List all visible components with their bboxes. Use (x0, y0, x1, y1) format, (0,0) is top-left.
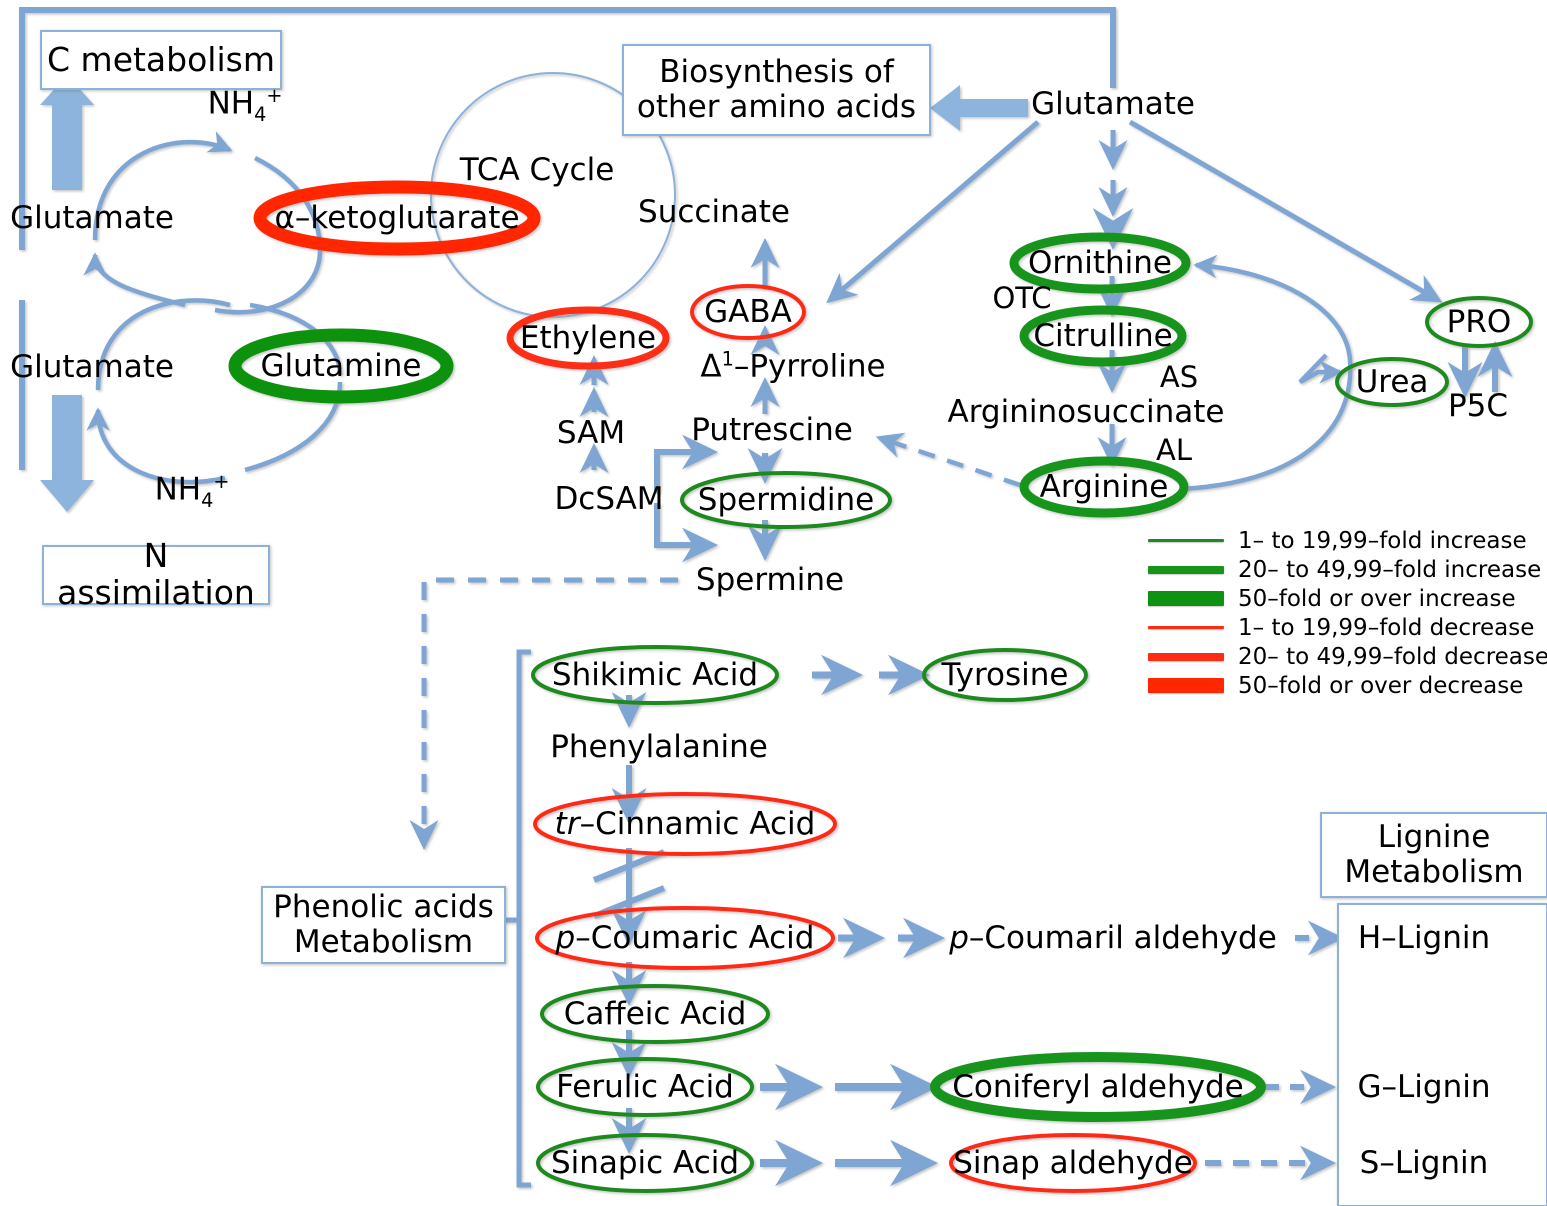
tr-cinnamic-acid-prefix: tr (555, 806, 580, 842)
box-c-metabolism-label: C metabolism (47, 42, 275, 79)
node-coniferyl-aldehyde: Coniferyl aldehyde (952, 1069, 1244, 1105)
node-nh4-bottom: NH4+ (155, 470, 230, 512)
node-glutamate-left-top: Glutamate (10, 200, 174, 236)
legend-bar-4 (1148, 626, 1224, 629)
node-otc: OTC (992, 281, 1051, 315)
legend-row: 1– to 19,99–fold increase (1148, 526, 1546, 555)
node-as: AS (1160, 360, 1198, 394)
node-succinate: Succinate (638, 194, 790, 230)
legend-row: 20– to 49,99–fold increase (1148, 555, 1546, 584)
node-nh4-top: NH4+ (208, 84, 283, 126)
legend-row: 50–fold or over decrease (1148, 671, 1546, 700)
node-argininosuccinate: Argininosuccinate (948, 394, 1225, 430)
legend-bar-1 (1148, 539, 1224, 542)
node-spermine: Spermine (696, 562, 844, 598)
legend-swatch (1148, 653, 1224, 661)
box-biosynthesis-other-amino-acids-label: Biosynthesis of other amino acids (637, 55, 916, 124)
legend-label: 20– to 49,99–fold increase (1238, 557, 1541, 583)
legend-swatch (1148, 591, 1224, 606)
legend-label: 20– to 49,99–fold decrease (1238, 644, 1547, 670)
node-al: AL (1156, 433, 1192, 467)
node-shikimic-acid: Shikimic Acid (552, 657, 758, 693)
node-tyrosine: Tyrosine (942, 657, 1069, 693)
node-ornithine: Ornithine (1028, 245, 1172, 281)
node-alpha-ketoglutarate: α–ketoglutarate (274, 200, 519, 236)
node-pro: PRO (1447, 304, 1512, 340)
p-coumaric-acid-prefix: p (556, 920, 576, 956)
legend-label: 50–fold or over decrease (1238, 673, 1523, 699)
node-g-lignin: G–Lignin (1358, 1069, 1491, 1105)
node-ferulic-acid: Ferulic Acid (556, 1069, 734, 1105)
node-dcsam: DcSAM (554, 481, 663, 517)
node-s-lignin: S–Lignin (1360, 1145, 1489, 1181)
node-pyrroline: Δ1–Pyrroline (700, 347, 885, 384)
node-sam: SAM (557, 415, 625, 451)
node-spermidine: Spermidine (698, 482, 874, 518)
node-sinapic-acid: Sinapic Acid (551, 1145, 739, 1181)
node-urea: Urea (1356, 364, 1429, 400)
p-coumaril-aldehyde-prefix: p (949, 920, 969, 956)
box-c-metabolism: C metabolism (40, 30, 282, 90)
node-glutamine: Glutamine (261, 348, 422, 384)
legend-label: 1– to 19,99–fold increase (1238, 528, 1527, 554)
node-glutamate-right: Glutamate (1031, 86, 1195, 122)
box-phenolic-acids-metabolism-label: Phenolic acids Metabolism (273, 890, 494, 959)
box-phenolic-acids-metabolism: Phenolic acids Metabolism (261, 886, 506, 964)
node-tr-cinnamic-acid: tr–Cinnamic Acid (555, 806, 816, 842)
p-coumaric-acid-suffix: –Coumaric Acid (575, 920, 814, 956)
legend-bar-6 (1148, 678, 1224, 693)
legend: 1– to 19,99–fold increase 20– to 49,99–f… (1148, 526, 1546, 700)
node-tca-cycle: TCA Cycle (460, 152, 615, 188)
box-n-assimilation-label: N assimilation (44, 538, 268, 612)
legend-row: 50–fold or over increase (1148, 584, 1546, 613)
p-coumaril-aldehyde-suffix: –Coumaril aldehyde (969, 920, 1277, 956)
legend-swatch (1148, 678, 1224, 693)
node-caffeic-acid: Caffeic Acid (564, 996, 747, 1032)
node-h-lignin: H–Lignin (1358, 920, 1490, 956)
legend-bar-2 (1148, 566, 1224, 574)
legend-label: 1– to 19,99–fold decrease (1238, 615, 1534, 641)
legend-bar-3 (1148, 591, 1224, 606)
legend-bar-5 (1148, 653, 1224, 661)
box-biosynthesis-other-amino-acids: Biosynthesis of other amino acids (622, 44, 931, 136)
legend-swatch (1148, 566, 1224, 574)
box-n-assimilation: N assimilation (42, 545, 270, 605)
box-lignine-metabolism-label: Lignine Metabolism (1344, 820, 1523, 889)
tr-cinnamic-acid-suffix: –Cinnamic Acid (580, 806, 816, 842)
pathway-diagram: C metabolism N assimilation Biosynthesis… (0, 0, 1547, 1206)
legend-label: 50–fold or over increase (1238, 586, 1516, 612)
node-p5c: P5C (1448, 388, 1508, 424)
node-ethylene: Ethylene (520, 320, 656, 356)
legend-swatch (1148, 539, 1224, 542)
node-sinap-aldehyde: Sinap aldehyde (953, 1145, 1193, 1181)
legend-row: 1– to 19,99–fold decrease (1148, 613, 1546, 642)
box-lignine-metabolism: Lignine Metabolism (1320, 812, 1547, 898)
node-gaba: GABA (704, 294, 792, 330)
node-citrulline: Citrulline (1033, 318, 1172, 354)
node-p-coumaric-acid: p–Coumaric Acid (556, 920, 815, 956)
node-phenylalanine: Phenylalanine (550, 729, 768, 765)
legend-row: 20– to 49,99–fold decrease (1148, 642, 1546, 671)
legend-swatch (1148, 626, 1224, 629)
node-p-coumaril-aldehyde: p–Coumaril aldehyde (949, 920, 1277, 956)
node-arginine: Arginine (1040, 469, 1169, 505)
node-putrescine: Putrescine (691, 412, 853, 448)
node-glutamate-left-bottom: Glutamate (10, 349, 174, 385)
